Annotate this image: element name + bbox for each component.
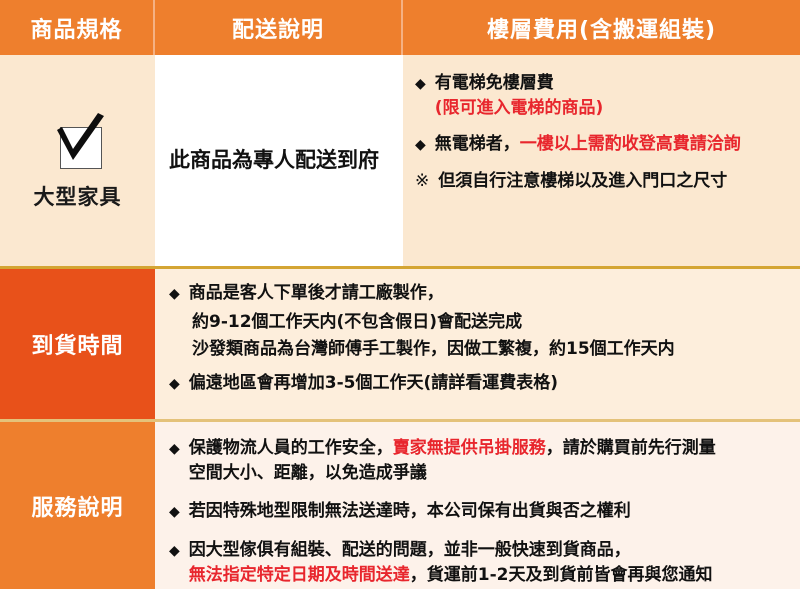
measure-space-text: 空間大小、距離，以免造成爭議 <box>189 463 427 483</box>
cell-arrival-time-details: ◆ 商品是客人下單後才請工廠製作， 約9-12個工作天内(不包含假日)會配送完成… <box>155 269 800 419</box>
list-item-text: 商品是客人下單後才請工廠製作， <box>189 281 444 306</box>
no-elevator-text: 無電梯者， <box>435 134 520 154</box>
list-item: ◆ 無電梯者，一樓以上需酌收登高費請洽詢 <box>415 132 790 157</box>
arrival-time-sub-line: 沙發類商品為台灣師傅手工製作，因做工繁複，約15個工作天内 <box>192 337 790 363</box>
table-header-row: 商品規格 配送說明 樓層費用(含搬運組裝) <box>0 0 800 55</box>
no-specific-date-note: 無法指定特定日期及時間送達 <box>189 565 410 585</box>
row-label-text: 到貨時間 <box>31 328 123 360</box>
elevator-limit-note: (限可進入電梯的商品) <box>435 98 604 118</box>
header-cell-floor-fee: 樓層費用(含搬運組裝) <box>403 0 800 55</box>
list-item-text: 無電梯者，一樓以上需酌收登高費請洽詢 <box>435 132 741 157</box>
list-item: ◆ 若因特殊地型限制無法送達時，本公司保有出貨與否之權利 <box>169 499 790 524</box>
header-cell-product-spec: 商品規格 <box>0 0 155 55</box>
list-item-text: 保護物流人員的工作安全，賣家無提供吊掛服務，請於購買前先行測量空間大小、距離，以… <box>189 436 716 485</box>
safety-text-b: ，請於購買前先行測量 <box>546 438 716 458</box>
list-item: ◆ 有電梯免樓層費 (限可進入電梯的商品) <box>415 71 790 120</box>
row-label-arrival-time: 到貨時間 <box>0 269 155 419</box>
list-item-text: 偏遠地區會再增加3-5個工作天(請詳看運費表格) <box>189 371 558 396</box>
extra-fee-note: 一樓以上需酌收登高費請洽詢 <box>520 134 741 154</box>
delivery-description-text: 此商品為專人配送到府 <box>169 145 379 175</box>
shipping-info-table: 商品規格 配送說明 樓層費用(含搬運組裝) 大型家具 此商品為專人配送到府 ◆ … <box>0 0 800 595</box>
diamond-bullet-icon: ◆ <box>415 132 426 156</box>
checkbox-checked-icon <box>46 111 110 173</box>
diamond-bullet-icon: ◆ <box>415 71 426 95</box>
notify-before-delivery-text: ，貨運前1-2天及到貨前皆會再與您通知 <box>410 565 713 585</box>
diamond-bullet-icon: ◆ <box>169 371 180 395</box>
list-item-text: 因大型傢俱有組裝、配送的問題，並非一般快速到貨商品，無法指定特定日期及時間送達，… <box>189 538 713 587</box>
list-item: ◆ 商品是客人下單後才請工廠製作， <box>169 281 790 306</box>
table-row: 大型家具 此商品為專人配送到府 ◆ 有電梯免樓層費 (限可進入電梯的商品) ◆ … <box>0 55 800 269</box>
list-item: ◆ 保護物流人員的工作安全，賣家無提供吊掛服務，請於購買前先行測量空間大小、距離… <box>169 436 790 485</box>
arrival-time-sub-line: 約9-12個工作天内(不包含假日)會配送完成 <box>192 310 790 336</box>
cell-floor-fee-details: ◆ 有電梯免樓層費 (限可進入電梯的商品) ◆ 無電梯者，一樓以上需酌收登高費請… <box>403 55 800 266</box>
assembly-issue-text: 因大型傢俱有組裝、配送的問題，並非一般快速到貨商品， <box>189 540 631 560</box>
diamond-bullet-icon: ◆ <box>169 538 180 562</box>
row-label-service-notes: 服務說明 <box>0 422 155 589</box>
reference-mark-bullet-icon: ※ <box>415 169 429 195</box>
cell-service-notes-details: ◆ 保護物流人員的工作安全，賣家無提供吊掛服務，請於購買前先行測量空間大小、距離… <box>155 422 800 589</box>
cell-delivery-description: 此商品為專人配送到府 <box>155 55 403 266</box>
row-label-text: 服務說明 <box>31 490 123 522</box>
list-item: ◆ 偏遠地區會再增加3-5個工作天(請詳看運費表格) <box>169 371 790 396</box>
header-cell-delivery-note: 配送說明 <box>155 0 403 55</box>
row-label-large-furniture: 大型家具 <box>0 55 155 266</box>
check-mark-icon <box>46 111 110 173</box>
diamond-bullet-icon: ◆ <box>169 281 180 305</box>
list-item-text: 有電梯免樓層費 (限可進入電梯的商品) <box>435 71 604 120</box>
list-item-text: 但須自行注意樓梯以及進入門口之尺寸 <box>438 169 727 194</box>
no-hoisting-note: 賣家無提供吊掛服務 <box>393 438 546 458</box>
list-item: ◆ 因大型傢俱有組裝、配送的問題，並非一般快速到貨商品，無法指定特定日期及時間送… <box>169 538 790 587</box>
table-row: 服務說明 ◆ 保護物流人員的工作安全，賣家無提供吊掛服務，請於購買前先行測量空間… <box>0 422 800 589</box>
list-item: ※ 但須自行注意樓梯以及進入門口之尺寸 <box>415 169 790 195</box>
diamond-bullet-icon: ◆ <box>169 499 180 523</box>
elevator-free-text: 有電梯免樓層費 <box>435 73 554 93</box>
diamond-bullet-icon: ◆ <box>169 436 180 460</box>
safety-text-a: 保護物流人員的工作安全， <box>189 438 393 458</box>
row-label-text: 大型家具 <box>34 181 122 211</box>
list-item-text: 若因特殊地型限制無法送達時，本公司保有出貨與否之權利 <box>189 499 631 524</box>
table-row: 到貨時間 ◆ 商品是客人下單後才請工廠製作， 約9-12個工作天内(不包含假日)… <box>0 269 800 422</box>
